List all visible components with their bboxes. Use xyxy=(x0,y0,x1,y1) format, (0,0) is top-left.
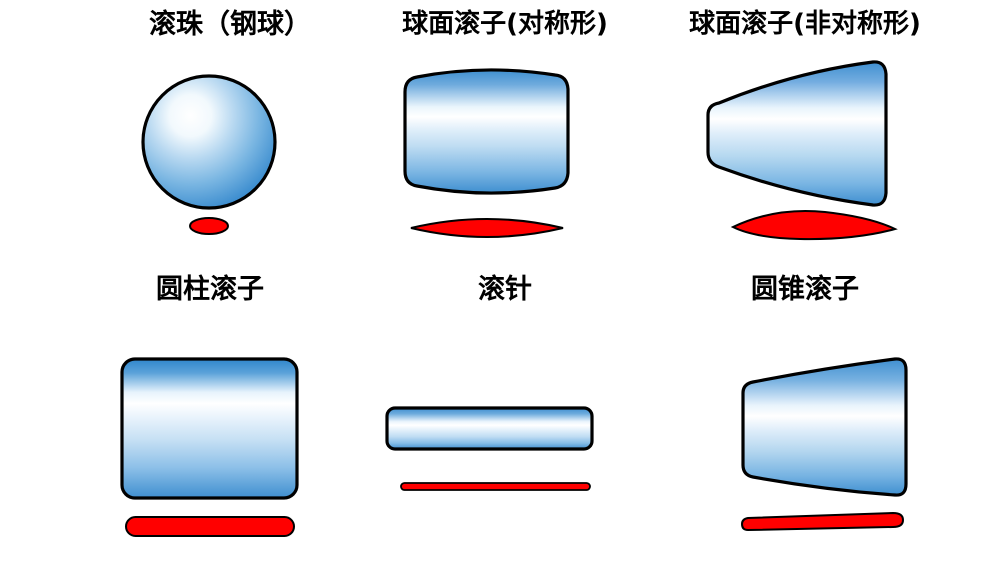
spherical-roller-symmetric-contact-area xyxy=(411,219,563,237)
ball-body xyxy=(143,76,275,208)
tapered-roller-illustration xyxy=(705,350,940,550)
spherical-roller-symmetric-body xyxy=(405,70,568,193)
ball-illustration xyxy=(130,60,330,255)
label-needle-roller: 滚针 xyxy=(355,275,655,305)
spherical-roller-asymmetric-contact-area xyxy=(733,211,895,239)
tapered-roller-body xyxy=(743,359,906,495)
needle-roller-contact-area xyxy=(401,483,590,490)
needle-roller-illustration xyxy=(375,350,615,550)
ball-contact-area xyxy=(190,218,228,234)
cylindrical-roller-contact-area xyxy=(126,517,294,536)
label-cylindrical-roller: 圆柱滚子 xyxy=(60,275,360,305)
spherical-roller-asymmetric-illustration xyxy=(705,55,940,255)
label-spherical-roller-asymmetric: 球面滚子(非对称形) xyxy=(635,10,975,39)
spherical-roller-asymmetric-body xyxy=(708,62,886,205)
label-tapered-roller: 圆锥滚子 xyxy=(645,275,965,305)
cylindrical-roller-body xyxy=(122,359,297,498)
rolling-element-types-figure: 滚珠（钢球） 球面滚子(对称形) 球面滚子(非对称形) 圆柱滚子 滚针 圆锥滚子 xyxy=(0,0,990,568)
cylindrical-roller-illustration xyxy=(105,350,345,550)
needle-roller-body xyxy=(387,408,592,449)
spherical-roller-symmetric-illustration xyxy=(395,55,625,255)
tapered-roller-contact-area xyxy=(742,513,903,530)
label-spherical-roller-symmetric: 球面滚子(对称形) xyxy=(345,10,665,39)
